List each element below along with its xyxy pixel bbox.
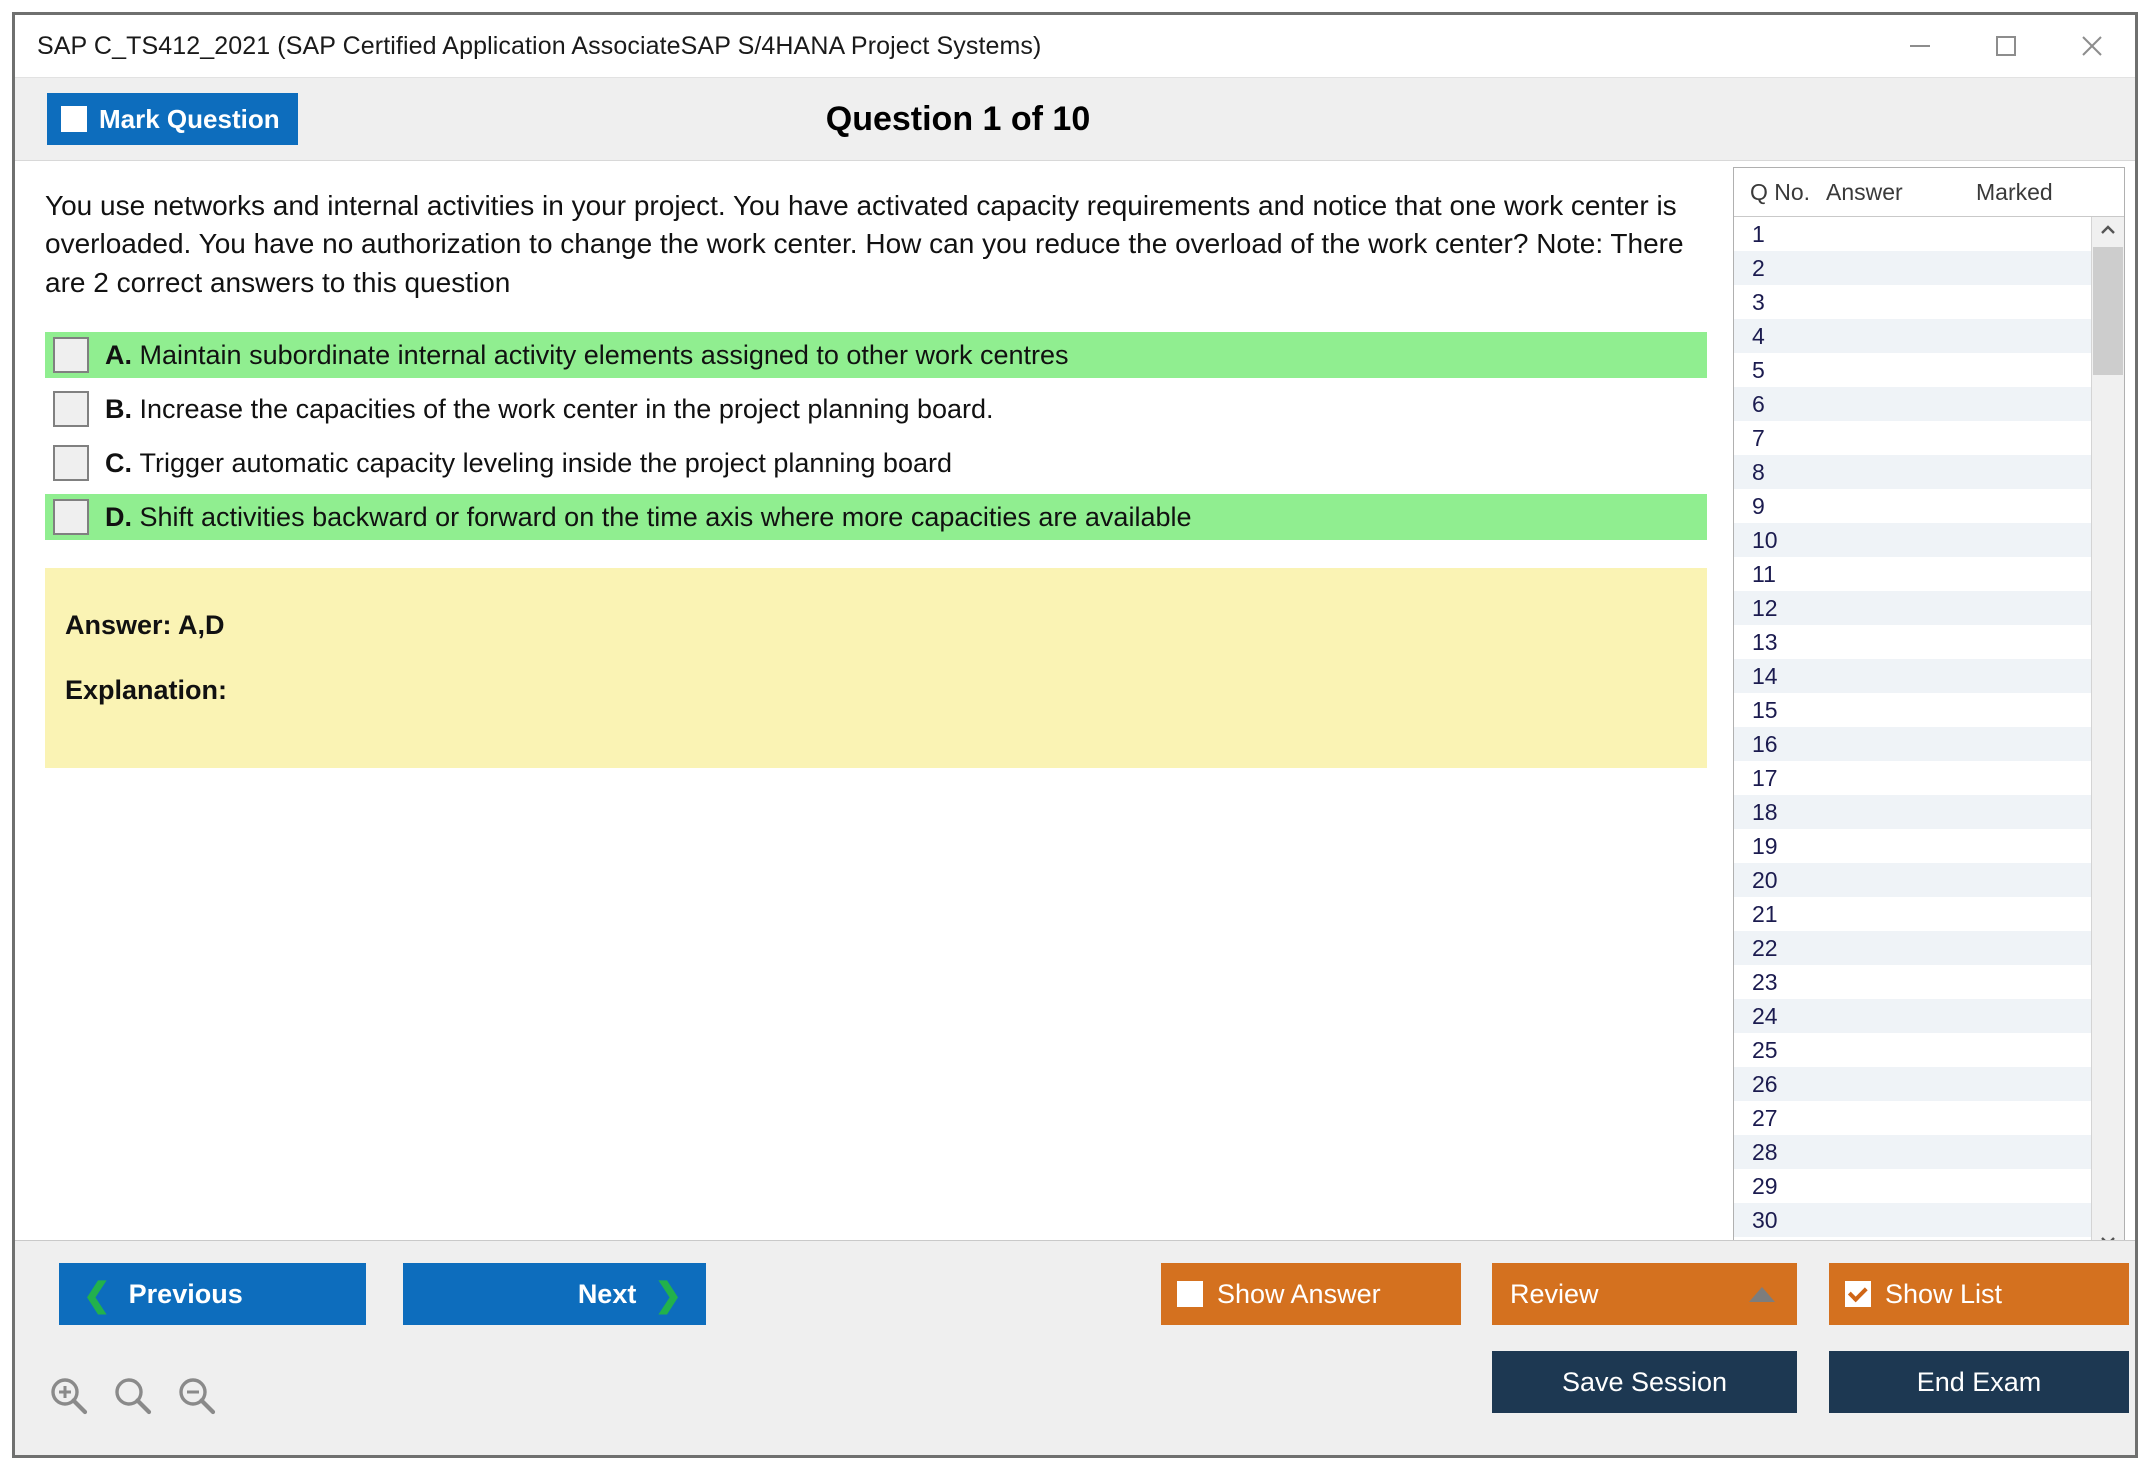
mark-question-label: Mark Question (99, 104, 280, 135)
question-list-row[interactable]: 2 (1734, 251, 2091, 285)
previous-button[interactable]: ❮ Previous (59, 1263, 366, 1325)
question-counter-heading: Question 1 of 10 (0, 100, 2018, 139)
row-question-number: 19 (1734, 833, 1826, 860)
option-b-label: B. Increase the capacities of the work c… (105, 394, 994, 425)
option-b-checkbox[interactable] (53, 391, 89, 427)
option-d-text: Shift activities backward or forward on … (140, 502, 1192, 532)
question-list-row[interactable]: 10 (1734, 523, 2091, 557)
question-list-row[interactable]: 12 (1734, 591, 2091, 625)
content-area: You use networks and internal activities… (15, 161, 2135, 1240)
question-list-row[interactable]: 23 (1734, 965, 2091, 999)
review-label: Review (1510, 1279, 1599, 1310)
mark-question-checkbox[interactable] (61, 106, 87, 132)
show-answer-button[interactable]: Show Answer (1161, 1263, 1461, 1325)
question-list-row[interactable]: 14 (1734, 659, 2091, 693)
option-c-checkbox[interactable] (53, 445, 89, 481)
option-c-label: C. Trigger automatic capacity leveling i… (105, 448, 952, 479)
question-text: You use networks and internal activities… (15, 161, 1725, 302)
row-question-number: 30 (1734, 1207, 1826, 1234)
chevron-right-icon: ❯ (654, 1278, 682, 1311)
question-list-row[interactable]: 13 (1734, 625, 2091, 659)
question-list-row[interactable]: 19 (1734, 829, 2091, 863)
show-list-checkbox[interactable] (1845, 1281, 1871, 1307)
question-list-row[interactable]: 3 (1734, 285, 2091, 319)
question-list-row[interactable]: 30 (1734, 1203, 2091, 1237)
question-list-row[interactable]: 16 (1734, 727, 2091, 761)
review-dropdown[interactable]: Review (1492, 1263, 1797, 1325)
question-list-body: 1234567891011121314151617181920212223242… (1734, 217, 2124, 1258)
close-button[interactable] (2049, 15, 2135, 77)
question-list-row[interactable]: 25 (1734, 1033, 2091, 1067)
row-question-number: 8 (1734, 459, 1826, 486)
option-a-letter: A. (105, 340, 132, 370)
row-question-number: 25 (1734, 1037, 1826, 1064)
close-icon (2079, 33, 2105, 59)
option-a-checkbox[interactable] (53, 337, 89, 373)
question-list-row[interactable]: 7 (1734, 421, 2091, 455)
row-question-number: 4 (1734, 323, 1826, 350)
zoom-out-icon[interactable] (176, 1375, 218, 1422)
question-list-row[interactable]: 27 (1734, 1101, 2091, 1135)
maximize-icon (1994, 34, 2018, 58)
end-exam-button[interactable]: End Exam (1829, 1351, 2129, 1413)
row-question-number: 16 (1734, 731, 1826, 758)
chevron-left-icon: ❮ (83, 1278, 111, 1311)
row-question-number: 10 (1734, 527, 1826, 554)
window-controls (1877, 15, 2135, 77)
question-list-row[interactable]: 8 (1734, 455, 2091, 489)
question-list-row[interactable]: 4 (1734, 319, 2091, 353)
option-c[interactable]: C. Trigger automatic capacity leveling i… (45, 440, 1707, 486)
answer-value: Answer: A,D (65, 610, 1707, 641)
zoom-reset-icon[interactable] (112, 1375, 154, 1422)
option-a-label: A. Maintain subordinate internal activit… (105, 340, 1069, 371)
row-question-number: 2 (1734, 255, 1826, 282)
command-bar: Mark Question Question 1 of 10 (15, 78, 2135, 161)
answer-options-list: A. Maintain subordinate internal activit… (15, 332, 1725, 540)
question-list-row[interactable]: 11 (1734, 557, 2091, 591)
row-question-number: 15 (1734, 697, 1826, 724)
option-b-letter: B. (105, 394, 132, 424)
question-list-row[interactable]: 15 (1734, 693, 2091, 727)
chevron-up-icon (1749, 1287, 1775, 1302)
minimize-button[interactable] (1877, 15, 1963, 77)
option-a[interactable]: A. Maintain subordinate internal activit… (45, 332, 1707, 378)
scrollbar-thumb[interactable] (2093, 247, 2123, 375)
question-list-row[interactable]: 18 (1734, 795, 2091, 829)
column-header-answer: Answer (1826, 179, 1976, 206)
row-question-number: 5 (1734, 357, 1826, 384)
end-exam-label: End Exam (1917, 1367, 2042, 1398)
row-question-number: 12 (1734, 595, 1826, 622)
question-list-row[interactable]: 28 (1734, 1135, 2091, 1169)
minimize-icon (1907, 38, 1933, 54)
scroll-up-button[interactable] (2092, 217, 2124, 247)
column-header-qno: Q No. (1734, 179, 1826, 206)
question-list-row[interactable]: 21 (1734, 897, 2091, 931)
title-bar: SAP C_TS412_2021 (SAP Certified Applicat… (15, 15, 2135, 78)
row-question-number: 6 (1734, 391, 1826, 418)
row-question-number: 21 (1734, 901, 1826, 928)
row-question-number: 7 (1734, 425, 1826, 452)
question-list-row[interactable]: 1 (1734, 217, 2091, 251)
question-list-row[interactable]: 6 (1734, 387, 2091, 421)
row-question-number: 1 (1734, 221, 1826, 248)
row-question-number: 20 (1734, 867, 1826, 894)
row-question-number: 13 (1734, 629, 1826, 656)
question-list-header: Q No. Answer Marked (1734, 168, 2124, 217)
question-list-row[interactable]: 24 (1734, 999, 2091, 1033)
row-question-number: 28 (1734, 1139, 1826, 1166)
application-window: SAP C_TS412_2021 (SAP Certified Applicat… (12, 12, 2138, 1458)
row-question-number: 22 (1734, 935, 1826, 962)
column-header-marked: Marked (1976, 179, 2124, 206)
option-b-text: Increase the capacities of the work cent… (140, 394, 994, 424)
show-list-label: Show List (1885, 1279, 2002, 1310)
save-session-button[interactable]: Save Session (1492, 1351, 1797, 1413)
row-question-number: 18 (1734, 799, 1826, 826)
row-question-number: 14 (1734, 663, 1826, 690)
option-b[interactable]: B. Increase the capacities of the work c… (45, 386, 1707, 432)
question-list-row[interactable]: 5 (1734, 353, 2091, 387)
show-answer-checkbox[interactable] (1177, 1281, 1203, 1307)
mark-question-button[interactable]: Mark Question (47, 93, 298, 145)
option-d[interactable]: D. Shift activities backward or forward … (45, 494, 1707, 540)
question-list-row[interactable]: 20 (1734, 863, 2091, 897)
option-c-text: Trigger automatic capacity leveling insi… (140, 448, 952, 478)
previous-label: Previous (129, 1279, 243, 1310)
answer-explanation-panel: Answer: A,D Explanation: (45, 568, 1707, 768)
question-list-panel: Q No. Answer Marked 12345678910111213141… (1733, 167, 2125, 1259)
option-d-checkbox[interactable] (53, 499, 89, 535)
question-list-scrollbar[interactable] (2091, 217, 2124, 1258)
row-question-number: 3 (1734, 289, 1826, 316)
question-list-row[interactable]: 26 (1734, 1067, 2091, 1101)
row-question-number: 24 (1734, 1003, 1826, 1030)
option-a-text: Maintain subordinate internal activity e… (140, 340, 1069, 370)
option-c-letter: C. (105, 448, 132, 478)
show-answer-label: Show Answer (1217, 1279, 1381, 1310)
row-question-number: 29 (1734, 1173, 1826, 1200)
row-question-number: 17 (1734, 765, 1826, 792)
explanation-label: Explanation: (65, 675, 1707, 706)
chevron-up-icon (2099, 223, 2117, 241)
question-list-row[interactable]: 9 (1734, 489, 2091, 523)
question-rows-container: 1234567891011121314151617181920212223242… (1734, 217, 2091, 1258)
zoom-toolbar (48, 1375, 218, 1422)
question-list-row[interactable]: 29 (1734, 1169, 2091, 1203)
window-title: SAP C_TS412_2021 (SAP Certified Applicat… (15, 32, 1041, 61)
row-question-number: 27 (1734, 1105, 1826, 1132)
show-list-button[interactable]: Show List (1829, 1263, 2129, 1325)
row-question-number: 26 (1734, 1071, 1826, 1098)
next-button[interactable]: Next ❯ (403, 1263, 706, 1325)
save-session-label: Save Session (1562, 1367, 1727, 1398)
row-question-number: 23 (1734, 969, 1826, 996)
option-d-letter: D. (105, 502, 132, 532)
question-list-row[interactable]: 17 (1734, 761, 2091, 795)
row-question-number: 11 (1734, 561, 1826, 588)
maximize-button[interactable] (1963, 15, 2049, 77)
row-question-number: 9 (1734, 493, 1826, 520)
next-label: Next (578, 1279, 637, 1310)
option-d-label: D. Shift activities backward or forward … (105, 502, 1192, 533)
exam-app-window: SAP C_TS412_2021 (SAP Certified Applicat… (0, 0, 2150, 1470)
zoom-in-icon[interactable] (48, 1375, 90, 1422)
question-pane: You use networks and internal activities… (15, 161, 1725, 1240)
footer-toolbar: ❮ Previous Next ❯ Show Answer Review Sho… (15, 1240, 2135, 1455)
question-list-row[interactable]: 22 (1734, 931, 2091, 965)
